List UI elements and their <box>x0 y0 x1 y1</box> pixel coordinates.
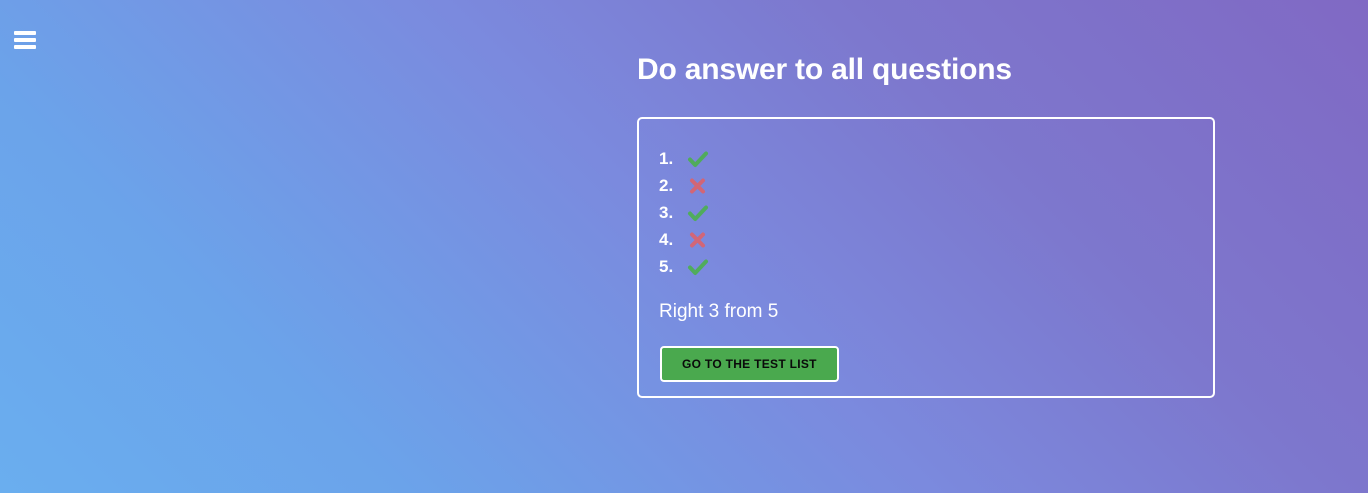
list-item: 4. <box>659 226 1213 253</box>
results-card: 1. 2. 3. 4. <box>637 117 1215 398</box>
question-number: 4. <box>659 226 685 253</box>
question-results-list: 1. 2. 3. 4. <box>639 119 1213 280</box>
list-item: 3. <box>659 199 1213 226</box>
hamburger-menu-button[interactable] <box>12 28 38 52</box>
page-title: Do answer to all questions <box>637 0 1237 86</box>
list-item: 1. <box>659 145 1213 172</box>
question-number: 3. <box>659 199 685 226</box>
question-number: 5. <box>659 253 685 280</box>
button-container: GO TO THE TEST LIST <box>639 324 1213 382</box>
score-text: Right 3 from 5 <box>639 280 1213 324</box>
cross-icon <box>687 230 709 250</box>
hamburger-menu-icon-bar-2 <box>14 38 36 42</box>
go-to-test-list-button[interactable]: GO TO THE TEST LIST <box>660 346 839 382</box>
list-item: 5. <box>659 253 1213 280</box>
hamburger-menu-icon-bar-1 <box>14 31 36 35</box>
hamburger-menu-icon-bar-3 <box>14 45 36 49</box>
question-number: 2. <box>659 172 685 199</box>
check-icon <box>687 149 709 169</box>
question-number: 1. <box>659 145 685 172</box>
check-icon <box>687 203 709 223</box>
check-icon <box>687 257 709 277</box>
main-content: Do answer to all questions <box>637 0 1237 86</box>
list-item: 2. <box>659 172 1213 199</box>
cross-icon <box>687 176 709 196</box>
